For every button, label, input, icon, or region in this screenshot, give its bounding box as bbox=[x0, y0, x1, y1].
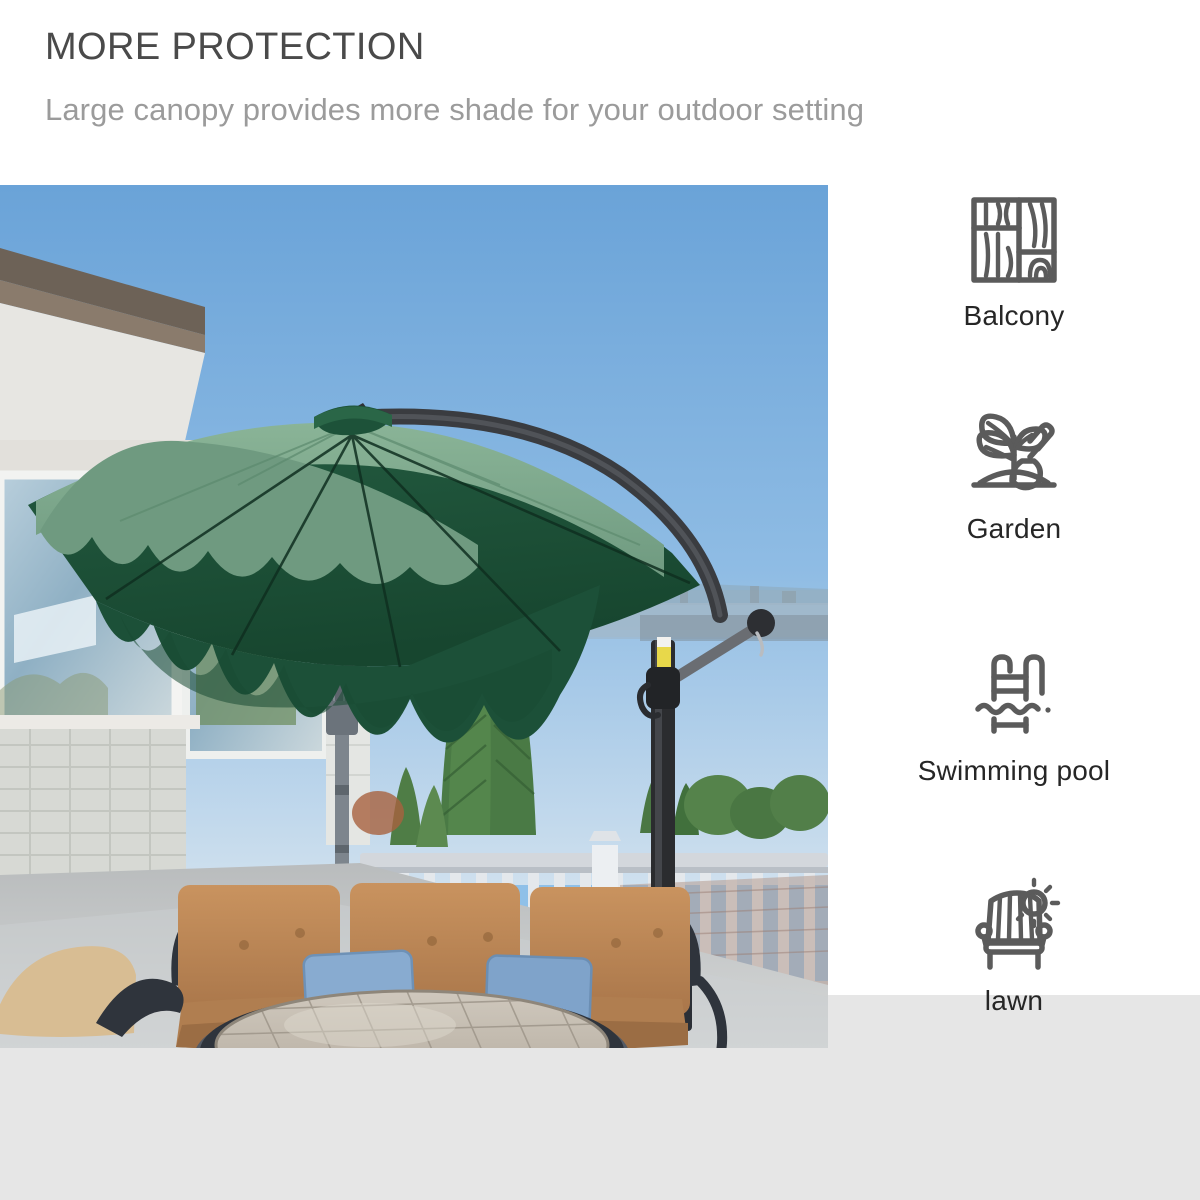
feature-item-balcony[interactable]: Balcony bbox=[828, 190, 1200, 332]
pool-ladder-icon bbox=[964, 645, 1064, 745]
header: MORE PROTECTION Large canopy provides mo… bbox=[0, 0, 1200, 185]
feature-label: lawn bbox=[828, 985, 1200, 1017]
page-subtitle: Large canopy provides more shade for you… bbox=[45, 92, 864, 128]
feature-label: Swimming pool bbox=[828, 755, 1200, 787]
feature-item-lawn[interactable]: lawn bbox=[828, 875, 1200, 1017]
bottom-grey-band-left bbox=[0, 1048, 828, 1200]
feature-label: Garden bbox=[828, 513, 1200, 545]
feature-rail: Balcony Garden bbox=[828, 185, 1200, 1200]
feature-item-swimming-pool[interactable]: Swimming pool bbox=[828, 645, 1200, 787]
feature-label: Balcony bbox=[828, 300, 1200, 332]
wood-deck-icon bbox=[964, 190, 1064, 290]
adirondack-chair-sun-icon bbox=[964, 875, 1064, 975]
feature-item-garden[interactable]: Garden bbox=[828, 403, 1200, 545]
plant-trowel-icon bbox=[964, 403, 1064, 503]
product-photo bbox=[0, 185, 828, 1048]
page-title: MORE PROTECTION bbox=[45, 26, 425, 69]
